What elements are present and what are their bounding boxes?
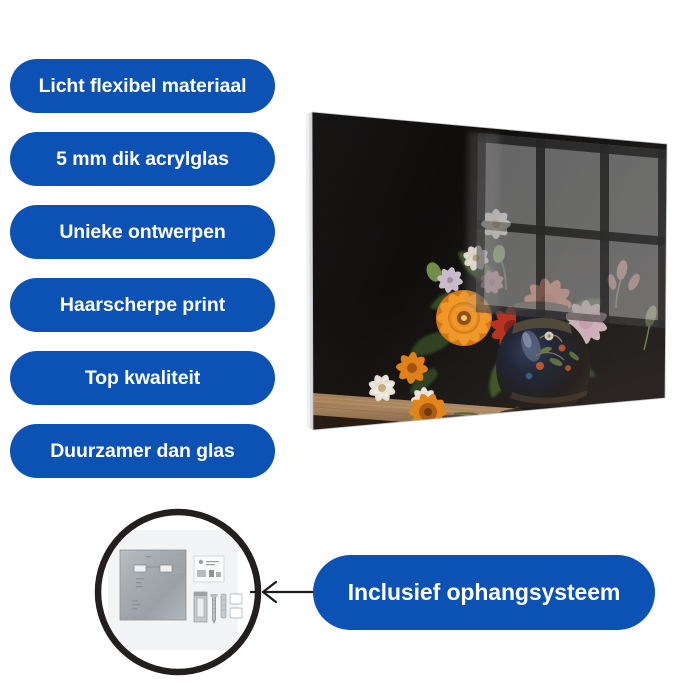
- product-feature-graphic: Licht flexibel materiaal 5 mm dik acrylg…: [0, 0, 700, 700]
- artwork-content: [300, 100, 690, 450]
- spacer-pad-1: [230, 594, 242, 604]
- mounting-hardware-circle: [94, 508, 262, 676]
- feature-pill-haarscherpe-print[interactable]: Haarscherpe print: [10, 278, 275, 332]
- instruction-leaflet: [194, 556, 224, 582]
- feature-pill-5-mm-dik-acrylglas[interactable]: 5 mm dik acrylglas: [10, 132, 275, 186]
- feature-pill-label: Haarscherpe print: [60, 294, 225, 317]
- callout-pill-inclusief-ophangsysteem[interactable]: Inclusief ophangsysteem: [313, 555, 655, 630]
- feature-pill-label: Unieke ontwerpen: [59, 221, 225, 244]
- callout-pill-label: Inclusief ophangsysteem: [348, 579, 621, 606]
- feature-pill-label: Duurzamer dan glas: [50, 440, 235, 463]
- feature-pill-label: 5 mm dik acrylglas: [56, 148, 229, 171]
- spacer-pad-2: [230, 608, 242, 618]
- acrylglas-print-panel: [300, 100, 690, 450]
- feature-pill-label: Licht flexibel materiaal: [39, 75, 247, 98]
- feature-pill-licht-flexibel-materiaal[interactable]: Licht flexibel materiaal: [10, 59, 275, 113]
- mounting-hardware-photo: [94, 508, 262, 676]
- feature-pill-duurzamer-dan-glas[interactable]: Duurzamer dan glas: [10, 424, 275, 478]
- wall-bracket: [194, 592, 207, 622]
- feature-pill-label: Top kwaliteit: [85, 367, 200, 390]
- feature-pill-top-kwaliteit[interactable]: Top kwaliteit: [10, 351, 275, 405]
- panel-artwork: [300, 100, 690, 450]
- aluminium-mounting-plate: [120, 550, 186, 620]
- feature-pill-unieke-ontwerpen[interactable]: Unieke ontwerpen: [10, 205, 275, 259]
- wall-anchor: [221, 594, 226, 618]
- gloss-sheen: [312, 112, 667, 430]
